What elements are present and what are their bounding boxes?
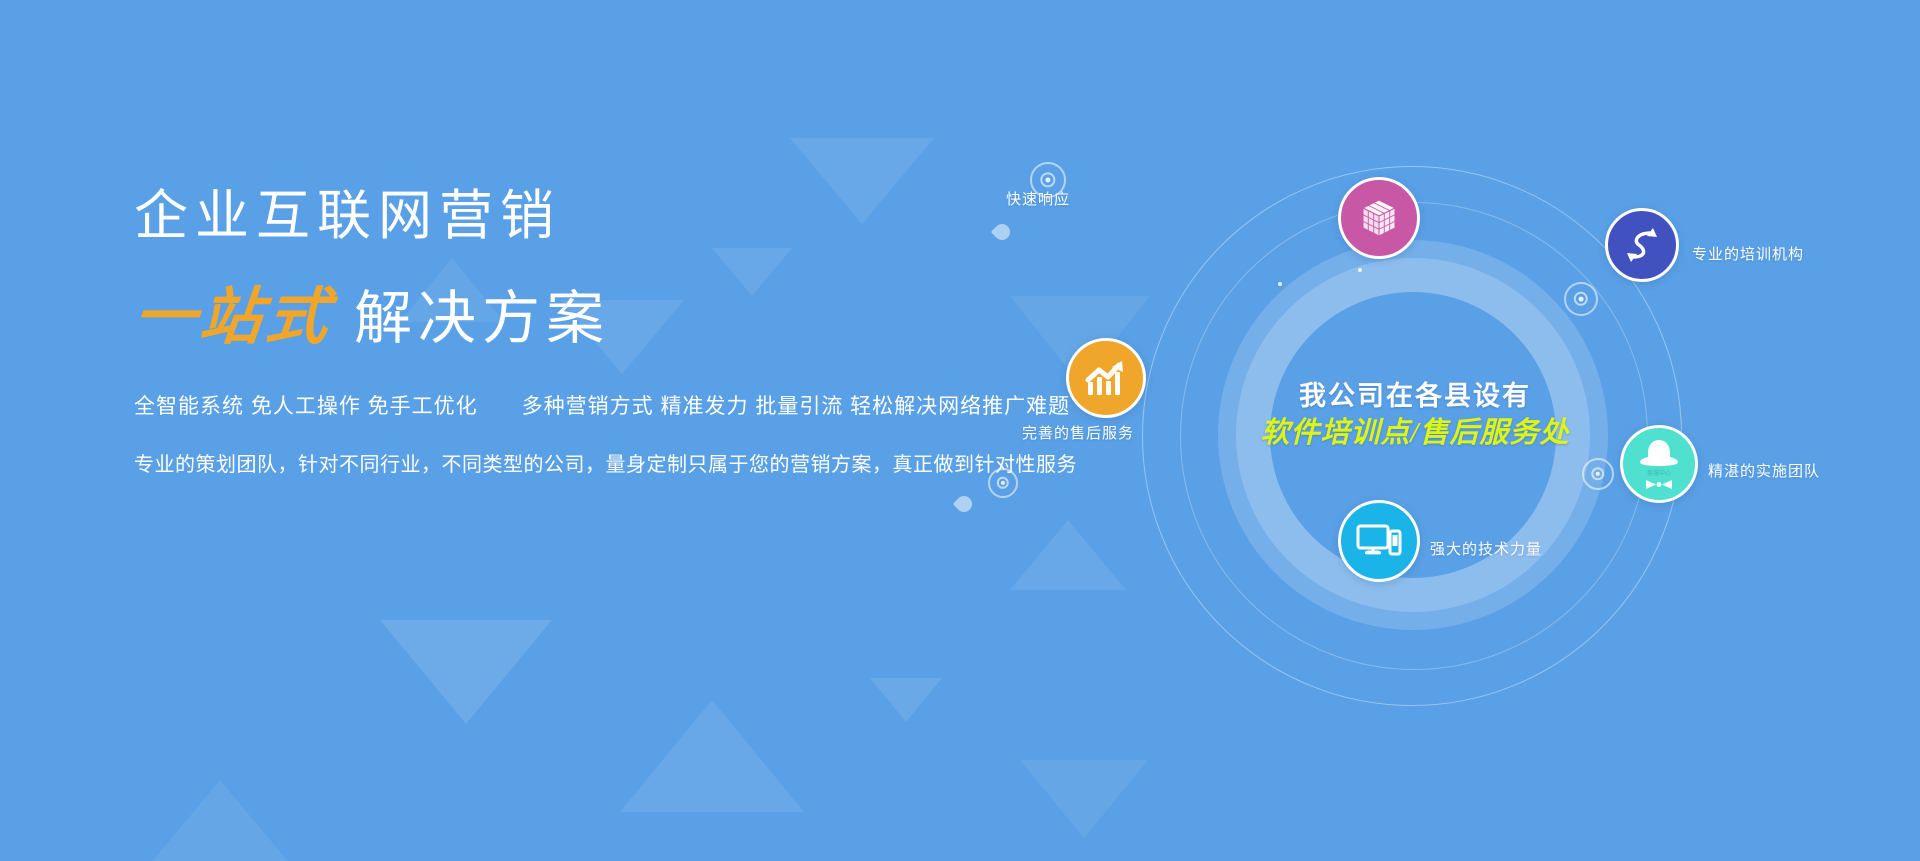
service-hat-caption: 客服中心 [1647,468,1671,477]
node-skilled-team[interactable]: 客服中心 [1620,425,1698,503]
service-network-graphic: 我公司在各县设有 软件培训点/售后服务处 [1080,140,1920,720]
target-marker-icon [988,468,1018,498]
decorative-triangle [1020,760,1148,838]
node-label-technical-strength: 强大的技术力量 [1430,538,1542,559]
node-fast-response[interactable] [1338,177,1420,259]
node-label-after-sales: 完善的售后服务 [1022,422,1134,443]
target-marker-icon [1564,282,1598,316]
target-marker-icon [1582,458,1614,490]
headline-accent-text: 一站式 [130,284,335,352]
decorative-triangle [870,678,942,722]
monitor-icon [1356,521,1402,561]
page-title: 企业互联网营销 [134,185,1054,248]
growth-chart-icon [1084,358,1128,398]
decorative-triangle [380,620,552,724]
center-message: 我公司在各县设有 软件培训点/售后服务处 [1230,378,1600,453]
headline-secondary: 一站式解决方案 [134,284,1054,352]
node-professional-training[interactable] [1605,208,1679,282]
cube-icon [1357,196,1401,240]
service-hat-icon: 客服中心 [1637,438,1681,491]
node-after-sales[interactable] [1066,338,1146,418]
subtitle-line-1: 全智能系统 免人工操作 免手工优化 多种营销方式 精准发力 批量引流 轻松解决网… [134,390,1054,420]
center-message-line-1: 我公司在各县设有 [1230,378,1600,414]
headline-block: 企业互联网营销 一站式解决方案 全智能系统 免人工操作 免手工优化 多种营销方式… [134,185,1054,477]
exchange-arrows-icon [1621,224,1663,266]
node-label-fast-response: 快速响应 [1006,188,1070,209]
headline-rest-text: 解决方案 [354,286,610,351]
decorative-triangle [620,700,804,812]
subtitle-line-2: 专业的策划团队，针对不同行业，不同类型的公司，量身定制只属于您的营销方案，真正做… [134,448,1054,477]
target-marker-icon [1358,268,1362,272]
center-message-line-2: 软件培训点/售后服务处 [1230,414,1600,453]
node-technical-strength[interactable] [1338,500,1420,582]
target-marker-icon [1278,282,1282,286]
node-label-professional-training: 专业的培训机构 [1692,243,1804,264]
marketing-banner: 企业互联网营销 一站式解决方案 全智能系统 免人工操作 免手工优化 多种营销方式… [0,0,1920,861]
decorative-triangle [150,780,290,861]
location-pin-icon [953,493,976,516]
node-label-skilled-team: 精湛的实施团队 [1708,460,1820,481]
